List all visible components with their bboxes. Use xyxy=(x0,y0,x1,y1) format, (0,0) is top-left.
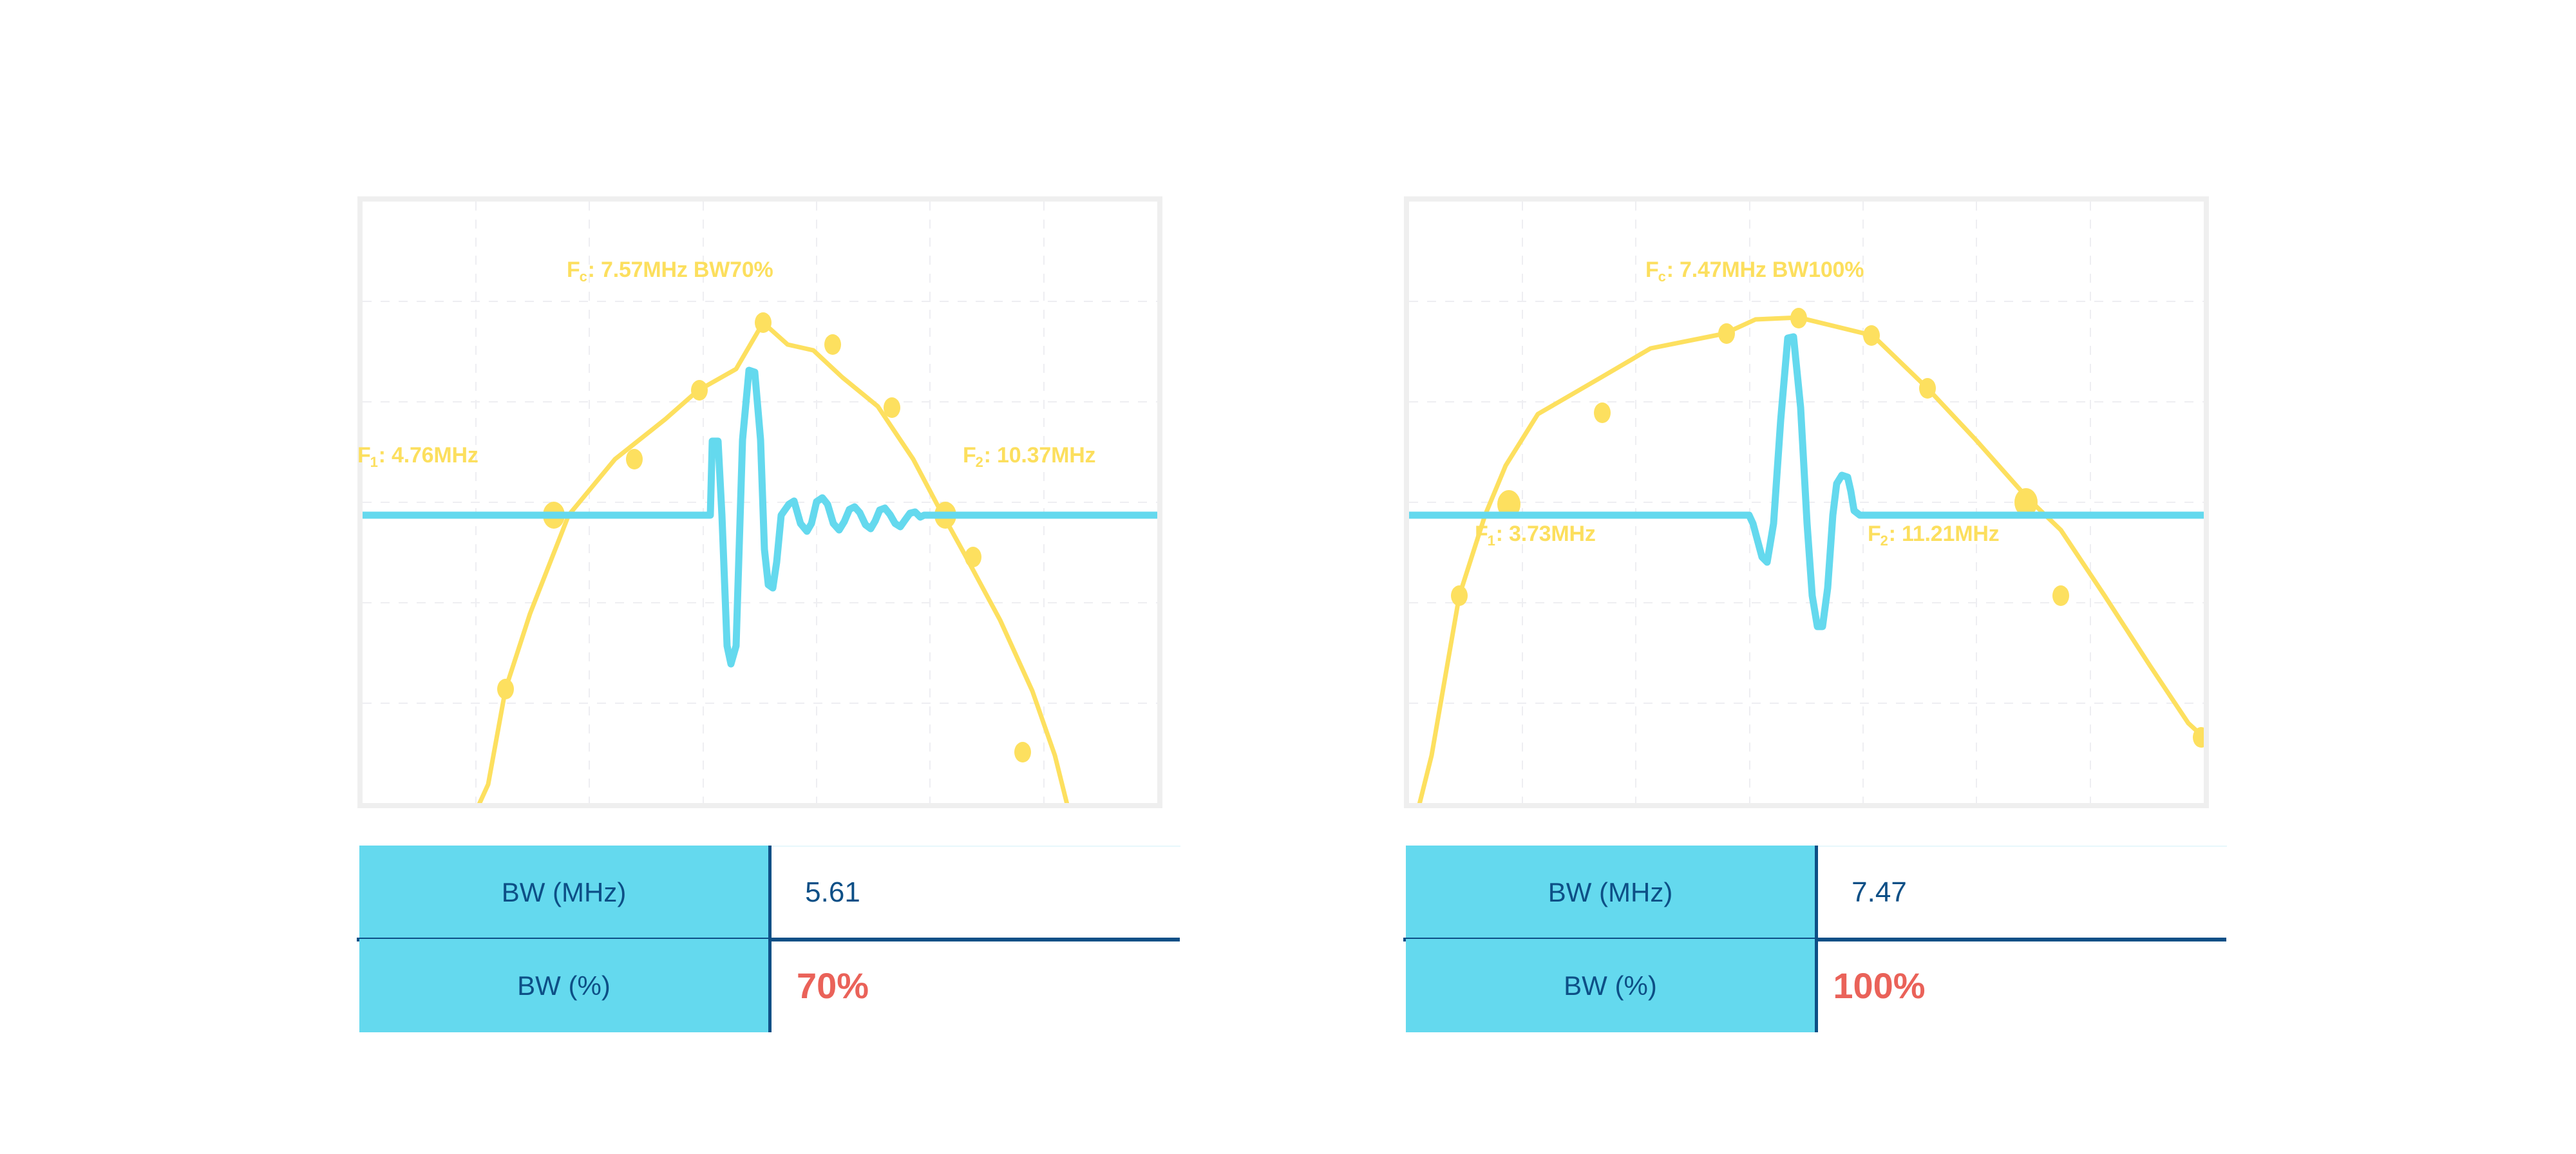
chart-frame-left xyxy=(357,196,1162,808)
chart-plot-left xyxy=(363,202,1157,803)
label-f1-sub: 1 xyxy=(1488,533,1495,549)
table-row: BW (MHz) 7.47 xyxy=(1406,846,2237,939)
label-f2-prefix: F xyxy=(963,443,976,468)
table-key-bw-percent: BW (%) xyxy=(359,939,768,1032)
label-fc-sub: c xyxy=(580,269,587,285)
pulse-waveform-cyan xyxy=(363,370,1157,664)
label-fc-text: : 7.47MHz BW100% xyxy=(1667,258,1864,282)
table-key-bw-percent: BW (%) xyxy=(1406,939,1815,1032)
label-f1-prefix: F xyxy=(1475,522,1488,546)
label-center-frequency-right: Fc: 7.47MHz BW100% xyxy=(1645,258,1864,283)
label-f2-text: : 11.21MHz xyxy=(1889,522,2000,546)
chart-plot-right xyxy=(1409,202,2204,803)
label-fc-prefix: F xyxy=(567,258,580,282)
table-key-bw-mhz: BW (MHz) xyxy=(359,846,768,939)
label-f2-left: F2: 10.37MHz xyxy=(963,443,1095,468)
table-value-bw-percent: 70% xyxy=(768,939,1190,1032)
chart-frame-right xyxy=(1404,196,2209,808)
label-fc-sub: c xyxy=(1658,269,1666,285)
table-value-bw-mhz: 5.61 xyxy=(768,846,1190,939)
label-f2-text: : 10.37MHz xyxy=(984,443,1096,468)
panel-right: Fc: 7.47MHz BW100% F1: 3.73MHz F2: 11.21… xyxy=(1356,0,2257,1154)
table-row: BW (%) 70% xyxy=(359,939,1190,1032)
label-f1-text: : 3.73MHz xyxy=(1496,522,1596,546)
table-value-bw-mhz: 7.47 xyxy=(1815,846,2237,939)
chart-svg-left xyxy=(363,202,1157,803)
bw-table-right: BW (MHz) 7.47 BW (%) 100% xyxy=(1406,846,2237,1032)
spectrum-curve-yellow xyxy=(472,323,1071,803)
label-f2-sub: 2 xyxy=(976,454,983,470)
label-f1-prefix: F xyxy=(357,443,371,468)
pulse-waveform-cyan xyxy=(1409,337,2204,627)
label-center-frequency-left: Fc: 7.57MHz BW70% xyxy=(567,258,773,283)
table-value-bw-percent: 100% xyxy=(1815,939,2237,1032)
label-fc-prefix: F xyxy=(1645,258,1659,282)
table-key-bw-mhz: BW (MHz) xyxy=(1406,846,1815,939)
table-row: BW (%) 100% xyxy=(1406,939,2237,1032)
label-f1-left: F1: 4.76MHz xyxy=(357,443,478,468)
label-f2-right: F2: 11.21MHz xyxy=(1868,522,1999,547)
table-row: BW (MHz) 5.61 xyxy=(359,846,1190,939)
chart-svg-right xyxy=(1409,202,2204,803)
bw-table-left: BW (MHz) 5.61 BW (%) 70% xyxy=(359,846,1190,1032)
label-f2-prefix: F xyxy=(1868,522,1881,546)
label-f1-sub: 1 xyxy=(370,454,378,470)
label-fc-text: : 7.57MHz BW70% xyxy=(588,258,773,282)
label-f1-text: : 4.76MHz xyxy=(379,443,478,468)
label-f2-sub: 2 xyxy=(1880,533,1888,549)
panel-left: Fc: 7.57MHz BW70% F1: 4.76MHz F2: 10.37M… xyxy=(309,0,1211,1154)
label-f1-right: F1: 3.73MHz xyxy=(1475,522,1596,547)
